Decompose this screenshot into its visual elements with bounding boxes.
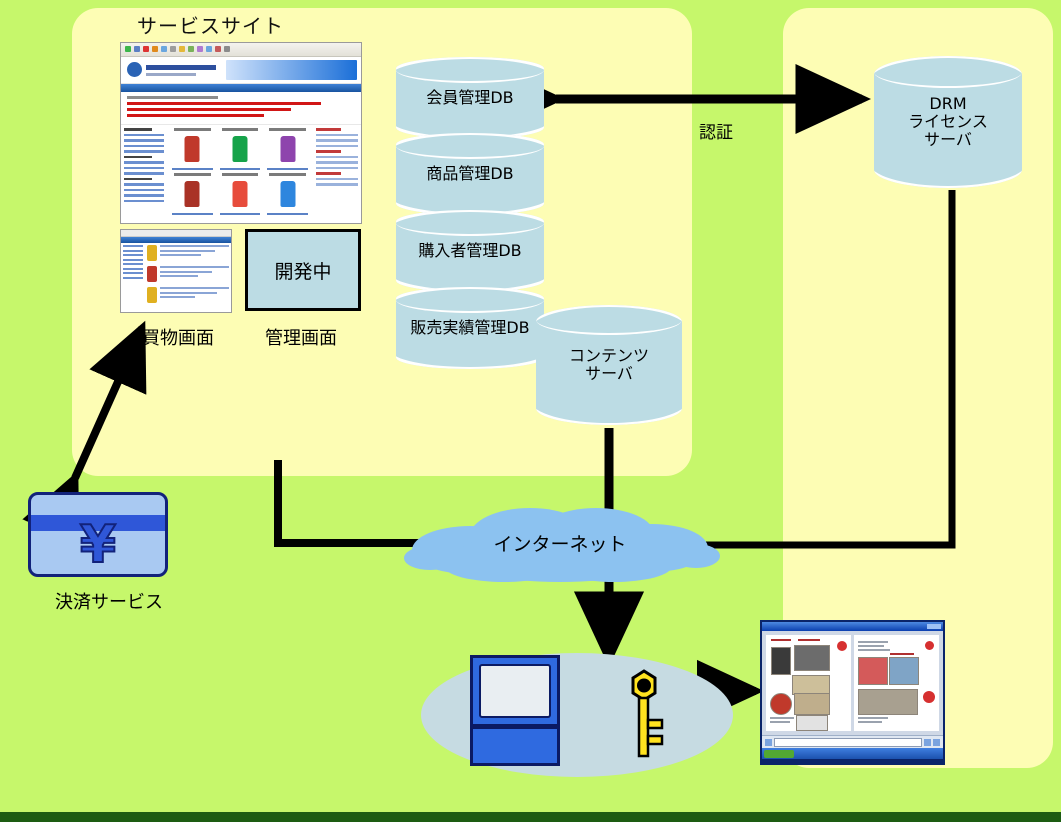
- key-icon: [622, 668, 666, 764]
- viewer-page-field[interactable]: [774, 738, 922, 747]
- diagram-canvas: サービスサイト: [0, 0, 1061, 822]
- catalog-right-sidebar: [313, 125, 361, 221]
- content-server-line2: サーバ: [585, 364, 633, 383]
- product-card: [265, 173, 310, 215]
- database-member: 会員管理DB: [396, 57, 544, 139]
- product-card: [170, 128, 215, 170]
- list-item: [147, 245, 229, 261]
- monitor-base: [470, 726, 560, 766]
- client-pc: [470, 655, 560, 765]
- blob-shape: [420, 645, 735, 785]
- ebook-viewer-screenshot: [760, 620, 945, 765]
- viewer-taskbar: [762, 748, 943, 759]
- viewer-page-stage: [762, 631, 943, 735]
- admin-screen-placeholder: 開発中: [245, 229, 361, 311]
- database-product: 商品管理DB: [396, 133, 544, 215]
- database-buyer: 購入者管理DB: [396, 210, 544, 292]
- database-label: 販売実績管理DB: [410, 319, 529, 337]
- database-cylinder-icon: [396, 210, 544, 236]
- yen-symbol: ¥: [80, 525, 116, 565]
- product-list-small: [145, 243, 231, 313]
- catalog-body: [121, 124, 361, 221]
- credit-card-icon: ¥: [28, 492, 168, 577]
- shopping-screen-screenshot: [120, 42, 362, 224]
- caption-payment-service: 決済サービス: [55, 588, 163, 614]
- shopping-screen-screenshot-small: [120, 229, 232, 313]
- product-card: [170, 173, 215, 215]
- viewer-page-left: [766, 635, 851, 731]
- database-cylinder-icon: [536, 305, 682, 335]
- database-label: 商品管理DB: [426, 165, 513, 183]
- product-card: [218, 128, 263, 170]
- catalog-body-small: [121, 243, 231, 313]
- client-zone-blob: [420, 645, 735, 785]
- viewer-page-right: [854, 635, 939, 731]
- product-grid: [167, 125, 313, 221]
- database-cylinder-icon: [396, 287, 544, 313]
- group-title-service-site: サービスサイト: [137, 10, 284, 39]
- list-item: [147, 287, 229, 303]
- database-label: 購入者管理DB: [418, 242, 521, 260]
- bottom-frame-rule: [0, 812, 1061, 822]
- drm-key: [622, 668, 666, 764]
- content-server: コンテンツ サーバ: [536, 305, 682, 425]
- database-label: 会員管理DB: [426, 89, 513, 107]
- list-item: [147, 266, 229, 282]
- browser-toolbar-small: [121, 230, 231, 237]
- site-nav-bar: [121, 84, 361, 92]
- database-cylinder-icon: [396, 57, 544, 83]
- site-logo-header: [121, 57, 361, 84]
- database-sales: 販売実績管理DB: [396, 287, 544, 369]
- caption-admin-screen: 管理画面: [265, 324, 337, 350]
- database-cylinder-icon: [874, 56, 1022, 88]
- admin-status-label: 開発中: [274, 257, 331, 284]
- drm-server-line2: ライセンス: [908, 112, 988, 131]
- payment-service-card: ¥: [28, 492, 168, 577]
- edge-label-auth: 認証: [699, 118, 733, 143]
- database-cylinder-icon: [396, 133, 544, 159]
- drm-server-line1: DRM: [929, 94, 966, 113]
- drm-license-server: DRM ライセンス サーバ: [874, 56, 1022, 188]
- content-server-line1: コンテンツ: [569, 346, 649, 365]
- drm-server-label: DRM ライセンス サーバ: [908, 95, 988, 149]
- monitor-icon: [470, 655, 560, 727]
- catalog-sidebar-small: [121, 243, 145, 313]
- internet-cloud: インターネット: [400, 500, 720, 586]
- internet-label: インターネット: [400, 530, 720, 557]
- product-card: [265, 128, 310, 170]
- monitor-screen: [479, 664, 551, 718]
- browser-toolbar: [121, 43, 361, 57]
- catalog-left-sidebar: [121, 125, 167, 221]
- caption-shopping-screen: 買物画面: [142, 324, 214, 350]
- drm-server-line3: サーバ: [924, 130, 972, 149]
- viewer-toolbar[interactable]: [762, 735, 943, 748]
- content-server-label: コンテンツ サーバ: [569, 347, 649, 383]
- notice-text-block: [121, 92, 361, 124]
- viewer-titlebar: [762, 622, 943, 631]
- product-card: [218, 173, 263, 215]
